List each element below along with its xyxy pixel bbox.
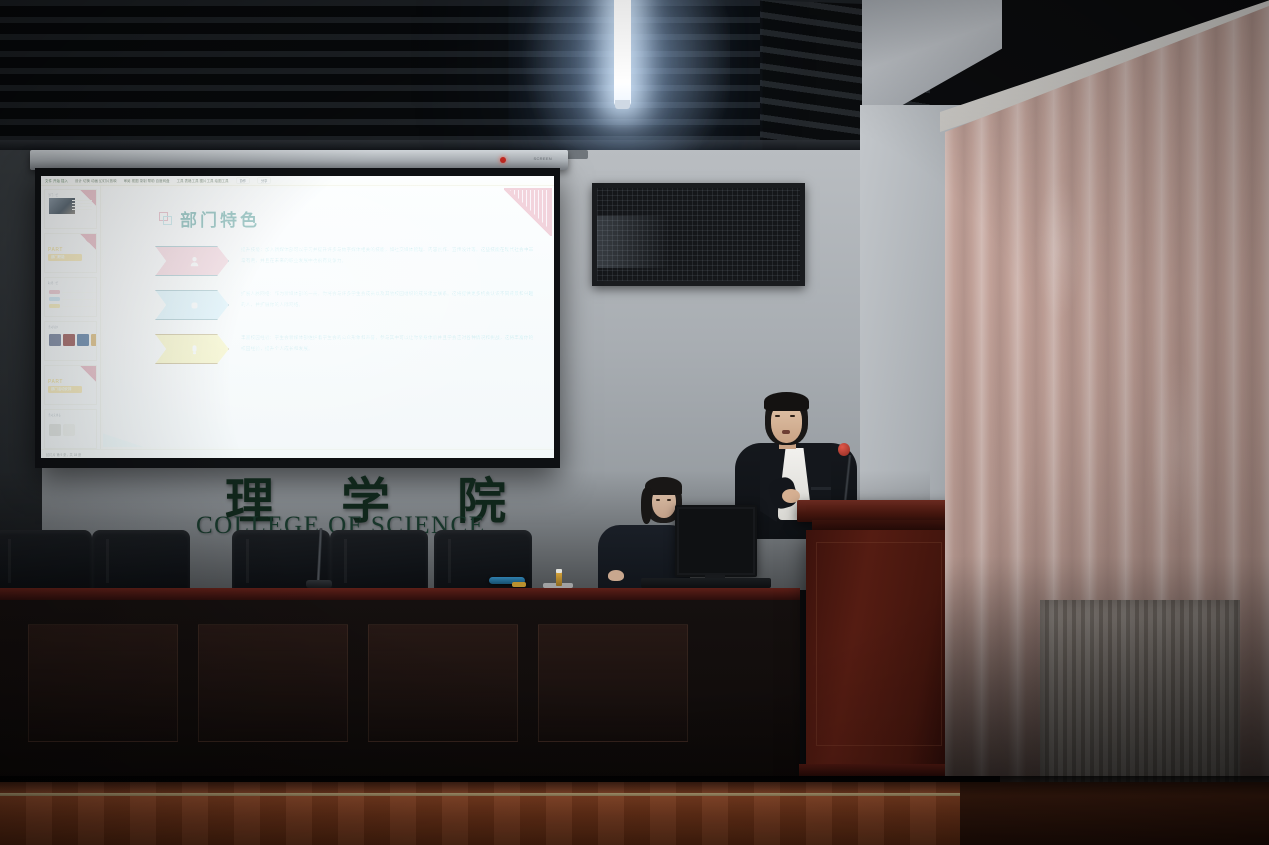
thumbnail-label: 部门介绍 [48, 193, 58, 197]
slide-title-group: 部门特色 [159, 206, 260, 231]
overlapping-squares-icon [159, 212, 172, 225]
speaker-pocket [811, 487, 831, 490]
ribbon-pill[interactable]: 分享 [257, 177, 271, 184]
podium-top [797, 500, 969, 522]
floor-right-shadow [960, 782, 1269, 845]
ribbon-item[interactable]: 工具 表格工具 图片工具 绘图工具 [177, 178, 229, 183]
thumbnail-lines [72, 200, 92, 212]
corner-decor [80, 366, 96, 382]
slide-blue-shape [103, 395, 229, 447]
slide-thumbnail[interactable]: PART 部门职能 [44, 233, 97, 273]
thumbnail-chevron-yellow [49, 304, 60, 308]
thumbnail-line [62, 292, 97, 293]
housing-label: SCREEN [534, 156, 552, 161]
current-slide[interactable]: 部门特色 提升 [103, 188, 552, 447]
thumbnail-line [62, 299, 97, 300]
speaker-mouth [782, 430, 790, 434]
stage-brass-strip [0, 793, 1000, 796]
table-microphone-base [306, 580, 332, 588]
slide-editing-area[interactable]: 部门特色 提升 [101, 186, 554, 449]
corner-decor [80, 234, 96, 250]
projection-screen-housing[interactable]: SCREEN [30, 150, 568, 170]
table-panel [28, 624, 178, 742]
thumbnail-label: 活动安排表 [48, 413, 61, 417]
slide-content-rows: 提升技能：加入新媒体部可以学习并提升许多与数字媒体相关的技能，如社交媒体管理、内… [155, 246, 538, 364]
thumbnail-part-label: PART [48, 379, 63, 385]
person-icon [189, 255, 200, 268]
power-indicator-icon [500, 157, 506, 163]
radiator-shadow [1040, 600, 1240, 790]
slide-thumbnail[interactable]: 活动展示 [44, 321, 97, 361]
powerpoint-window[interactable]: 文件 开始 插入 设计 切换 动画 幻灯片放映 审阅 视图 录制 帮助 百度网盘… [41, 176, 554, 458]
chair [0, 530, 92, 592]
thumbnail-label: 活动展示 [48, 325, 58, 329]
row-text: 提升技能：加入新媒体部可以学习并提升许多与数字媒体相关的技能，如社交媒体管理、内… [241, 246, 538, 268]
podium-microphone-head [838, 443, 850, 456]
ribbon-item[interactable]: 审阅 视图 录制 帮助 百度网盘 [124, 178, 170, 183]
thumbnail-chevron-blue [49, 297, 60, 301]
seated-person-eye [656, 499, 660, 501]
desk-bottle [556, 572, 562, 586]
network-icon [189, 299, 200, 312]
row-text: 扩展人脉网络：作为新媒体部的一员，你将会与许多学生会成员以及其他校园组织的成员建… [241, 290, 538, 312]
speaker-hair [764, 392, 809, 411]
slatted-ceiling [0, 0, 930, 150]
screen-surface: 文件 开始 插入 设计 切换 动画 幻灯片放映 审阅 视图 录制 帮助 百度网盘… [41, 176, 554, 458]
thumbnail-band: 部门职能 [48, 254, 82, 261]
speaker-eye [775, 415, 780, 417]
ppt-status-bar: 幻灯片 第 9 张，共 18 张 [41, 449, 554, 458]
slide-thumbnail[interactable]: 活动安排表 [44, 409, 97, 449]
thumbnail-cards [49, 424, 75, 436]
thumbnail-chevron-pink [49, 290, 60, 294]
status-text: 幻灯片 第 9 张，共 18 张 [46, 452, 81, 457]
thumbnail-label: 职能介绍 [48, 281, 58, 285]
speaker-eye [790, 415, 795, 417]
chair [330, 530, 428, 592]
slide-thumbnail-pane[interactable]: 部门介绍 PART 部门职能 职能介绍 [41, 186, 101, 449]
thumbnail-band: 部门活动安排 [48, 386, 82, 393]
seated-person-eye [667, 499, 671, 501]
seated-person-hair-side [641, 488, 652, 524]
projection-screen: 文件 开始 插入 设计 切换 动画 幻灯片放映 审阅 视图 录制 帮助 百度网盘… [35, 168, 560, 468]
conference-table-front [0, 600, 800, 780]
led-reflection [597, 216, 669, 268]
ceiling-sensor [566, 150, 588, 159]
led-display-panel [592, 183, 805, 286]
chevron-shape-yellow [155, 334, 229, 364]
tube-end-cap [615, 100, 630, 109]
slide-title: 部门特色 [180, 206, 260, 231]
table-panel [538, 624, 688, 742]
fluorescent-tube-light [614, 0, 631, 106]
ppt-body: 部门介绍 PART 部门职能 职能介绍 [41, 186, 554, 449]
desk-item-gold [512, 582, 526, 587]
slide-thumbnail[interactable]: 职能介绍 [44, 277, 97, 317]
megaphone-icon [189, 343, 200, 356]
content-row: 提升技能：加入新媒体部可以学习并提升许多与数字媒体相关的技能，如社交媒体管理、内… [155, 246, 538, 276]
ribbon-item[interactable]: 设计 切换 动画 幻灯片放映 [75, 178, 117, 183]
slide-thumbnail[interactable]: PART 部门活动安排 [44, 365, 97, 405]
thumbnail-band-text: 部门职能 [48, 254, 82, 261]
chevron-shape-pink [155, 246, 229, 276]
monitor-screen [679, 509, 753, 573]
thumbnail-part-label: PART [48, 247, 63, 253]
content-row: 扩展人脉网络：作为新媒体部的一员，你将会与许多学生会成员以及其他校园组织的成员建… [155, 290, 538, 320]
lecture-hall-photo: SCREEN 文件 开始 插入 设计 切换 动画 幻灯片放映 审阅 视图 录制 … [0, 0, 1269, 845]
chevron-shape-blue [155, 290, 229, 320]
ribbon-item[interactable]: 文件 开始 插入 [45, 178, 68, 183]
slide-thumbnail[interactable]: 部门介绍 [44, 189, 97, 229]
podium-body: 黑龙江八一农垦大学 1958 HEILONGJIANG BAYI AGRICUL… [806, 530, 952, 776]
computer-monitor [675, 505, 757, 577]
seated-person-hand [608, 570, 624, 581]
content-row: 丰富校园经验：学生会新媒体部维护着学生会的公众形象和声誉，参与其中可以让你亲身体… [155, 334, 538, 364]
thumbnail-line [62, 306, 97, 307]
thumbnail-cards [49, 334, 97, 346]
keyboard [641, 578, 771, 588]
desk-bottle-cap [556, 569, 562, 573]
chair [92, 530, 190, 592]
ppt-ribbon[interactable]: 文件 开始 插入 设计 切换 动画 幻灯片放映 审阅 视图 录制 帮助 百度网盘… [41, 176, 554, 186]
ribbon-pill[interactable]: 协作 [236, 177, 250, 184]
table-panel [368, 624, 518, 742]
thumbnail-band-text: 部门活动安排 [48, 386, 82, 393]
row-text: 丰富校园经验：学生会新媒体部维护着学生会的公众形象和声誉，参与其中可以让你亲身体… [241, 334, 538, 356]
table-panel [198, 624, 348, 742]
